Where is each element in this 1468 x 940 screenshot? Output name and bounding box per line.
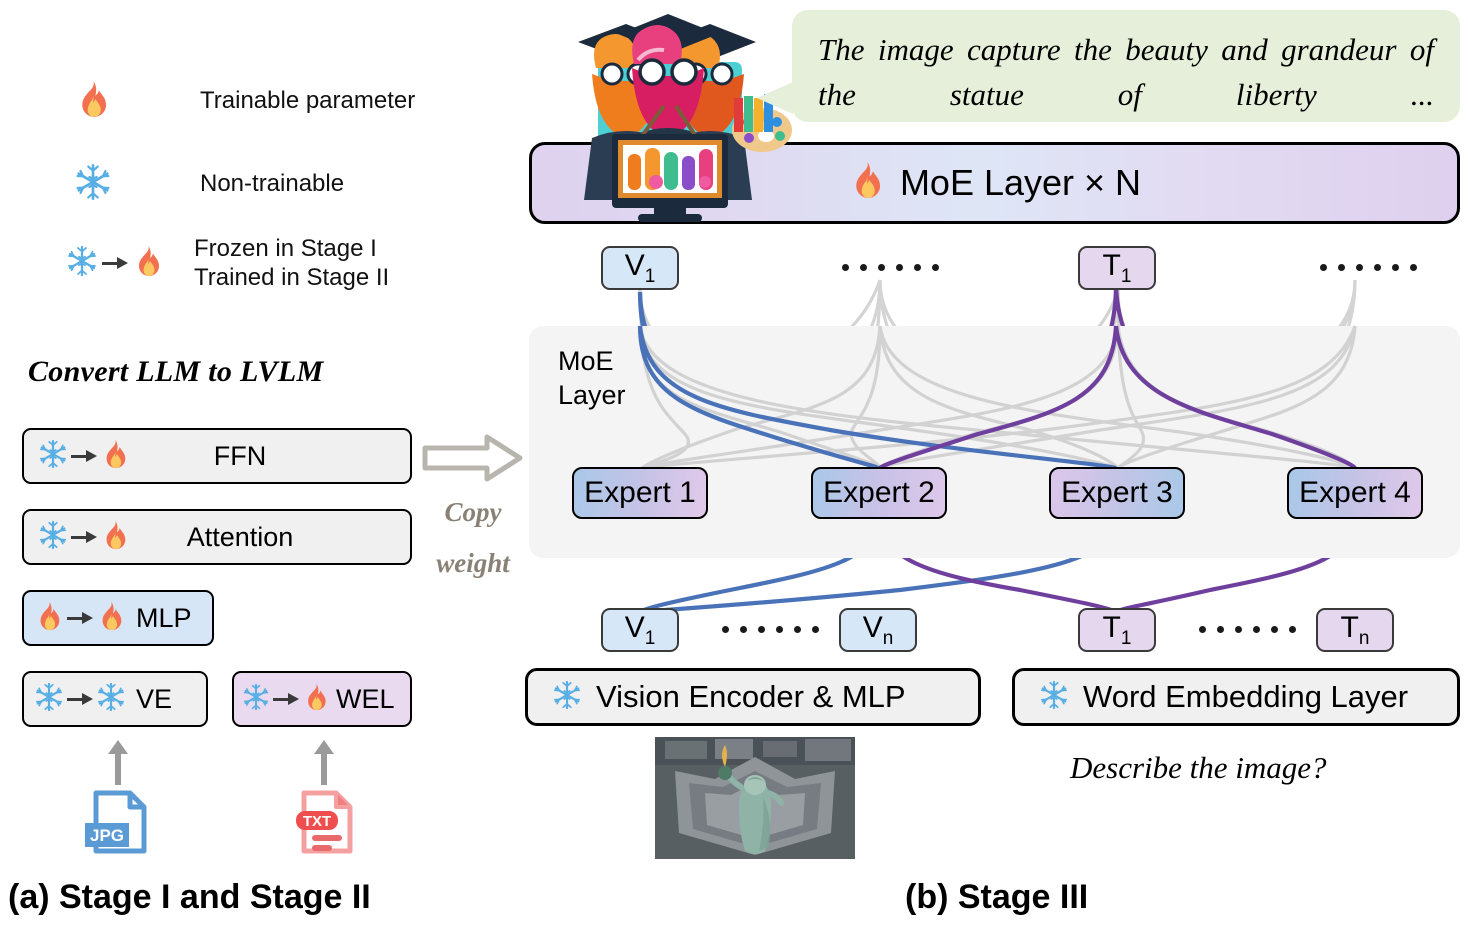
expert-4-label: Expert 4 (1299, 476, 1411, 510)
box-label-mlp: MLP (136, 603, 192, 634)
fire-icon (100, 520, 130, 554)
legend-label-frozen-then-trained: Frozen in Stage I Trained in Stage II (194, 234, 389, 293)
token-t1-top[interactable]: T1 (1078, 246, 1156, 290)
vision-encoder-box[interactable]: Vision Encoder & MLP (525, 668, 981, 726)
arrow-right-icon (71, 530, 97, 544)
arrow-right-icon (273, 692, 299, 706)
copy-weight-label-line2: weight (418, 544, 528, 583)
snowflake-icon (66, 245, 98, 281)
arrow-right-icon (67, 611, 93, 625)
snowflake-icon (96, 682, 126, 716)
fire-icon (132, 245, 164, 281)
box-attention[interactable]: Attention (22, 509, 412, 565)
copy-weight-label-line1: Copy (418, 493, 528, 532)
snowflake-icon (74, 163, 112, 205)
snowflake-icon (552, 680, 582, 715)
txt-file-icon: TXT (288, 785, 362, 864)
box-label-attention: Attention (130, 522, 350, 553)
expert-3-label: Expert 3 (1061, 476, 1173, 510)
user-prompt-text: Describe the image? (1070, 750, 1327, 786)
moe-layer-xn-content: MoE Layer × N (848, 161, 1141, 205)
copy-weight-annotation: Copy weight (418, 432, 528, 583)
expert-2-label: Expert 2 (823, 476, 935, 510)
legend-label-trainable: Trainable parameter (200, 86, 415, 115)
expert-1-label: Expert 1 (584, 476, 696, 510)
expert-1[interactable]: Expert 1 (572, 467, 708, 519)
ellipsis-top-right (1320, 264, 1417, 271)
box-wel[interactable]: WEL (232, 671, 412, 727)
fire-icon (848, 161, 886, 205)
ffn-state-icons (38, 439, 130, 473)
fire-icon (100, 439, 130, 473)
snowflake-icon (34, 682, 64, 716)
ve-state-icons (34, 682, 126, 716)
expert-2[interactable]: Expert 2 (811, 467, 947, 519)
box-ffn[interactable]: FFN (22, 428, 412, 484)
token-v1-top[interactable]: V1 (601, 246, 679, 290)
token-v1-bottom[interactable]: V1 (601, 608, 679, 652)
moe-layer-xn-label: MoE Layer × N (900, 162, 1141, 204)
box-mlp[interactable]: MLP (22, 590, 214, 646)
box-label-ve: VE (136, 684, 172, 715)
input-image-thumbnail (655, 737, 855, 859)
wel-state-icons (242, 683, 330, 715)
caption-left: (a) Stage I and Stage II (8, 878, 371, 917)
arrow-right-icon (71, 449, 97, 463)
ellipsis-bottom-right (1199, 626, 1296, 633)
snowflake-icon (242, 683, 270, 715)
token-v1-top-label: V1 (625, 249, 656, 288)
arrow-up-icon (108, 740, 128, 786)
fire-icon (302, 683, 330, 715)
snowflake-icon (1039, 680, 1069, 715)
mlp-state-icons (34, 601, 126, 635)
legend-item-nontrainable: Non-trainable (74, 163, 344, 205)
snowflake-icon (38, 439, 68, 473)
word-embedding-label: Word Embedding Layer (1083, 679, 1408, 715)
box-ve[interactable]: VE (22, 671, 208, 727)
caption-right: (b) Stage III (905, 878, 1088, 917)
assistant-response-text: The image capture the beauty and grandeu… (818, 32, 1434, 112)
word-embedding-box[interactable]: Word Embedding Layer (1012, 668, 1460, 726)
token-tn-bottom[interactable]: Tn (1316, 608, 1394, 652)
fire-icon (74, 80, 112, 122)
svg-text:JPG: JPG (90, 826, 124, 845)
box-label-wel: WEL (336, 684, 395, 715)
fire-icon (34, 601, 64, 635)
legend-item-frozen-then-trained: Frozen in Stage I Trained in Stage II (66, 234, 389, 293)
expert-4[interactable]: Expert 4 (1287, 467, 1423, 519)
token-t1-top-label: T1 (1103, 249, 1132, 288)
fire-icon (96, 601, 126, 635)
ellipsis-top-left (842, 264, 939, 271)
speech-bubble-tail-icon (757, 82, 793, 114)
assistant-response-bubble: The image capture the beauty and grandeu… (792, 10, 1460, 122)
expert-3[interactable]: Expert 3 (1049, 467, 1185, 519)
arrow-up-icon (314, 740, 334, 786)
token-t1-bottom[interactable]: T1 (1078, 608, 1156, 652)
box-label-ffn: FFN (130, 441, 350, 472)
ellipsis-bottom-left (722, 626, 819, 633)
vision-encoder-label: Vision Encoder & MLP (596, 679, 906, 715)
copy-weight-arrow-icon (421, 432, 525, 484)
svg-text:TXT: TXT (303, 813, 331, 830)
legend-label-nontrainable: Non-trainable (200, 169, 344, 198)
arrow-right-icon (67, 692, 93, 706)
moe-layer-panel-label: MoE Layer (558, 345, 626, 413)
attention-state-icons (38, 520, 130, 554)
moe-layer-panel (529, 326, 1460, 558)
snowflake-icon (38, 520, 68, 554)
convert-llm-title: Convert LLM to LVLM (28, 355, 323, 389)
arrow-right-icon (102, 256, 128, 270)
legend-item-trainable: Trainable parameter (74, 80, 415, 122)
jpg-file-icon: JPG (82, 785, 156, 864)
token-vn-bottom[interactable]: Vn (839, 608, 917, 652)
